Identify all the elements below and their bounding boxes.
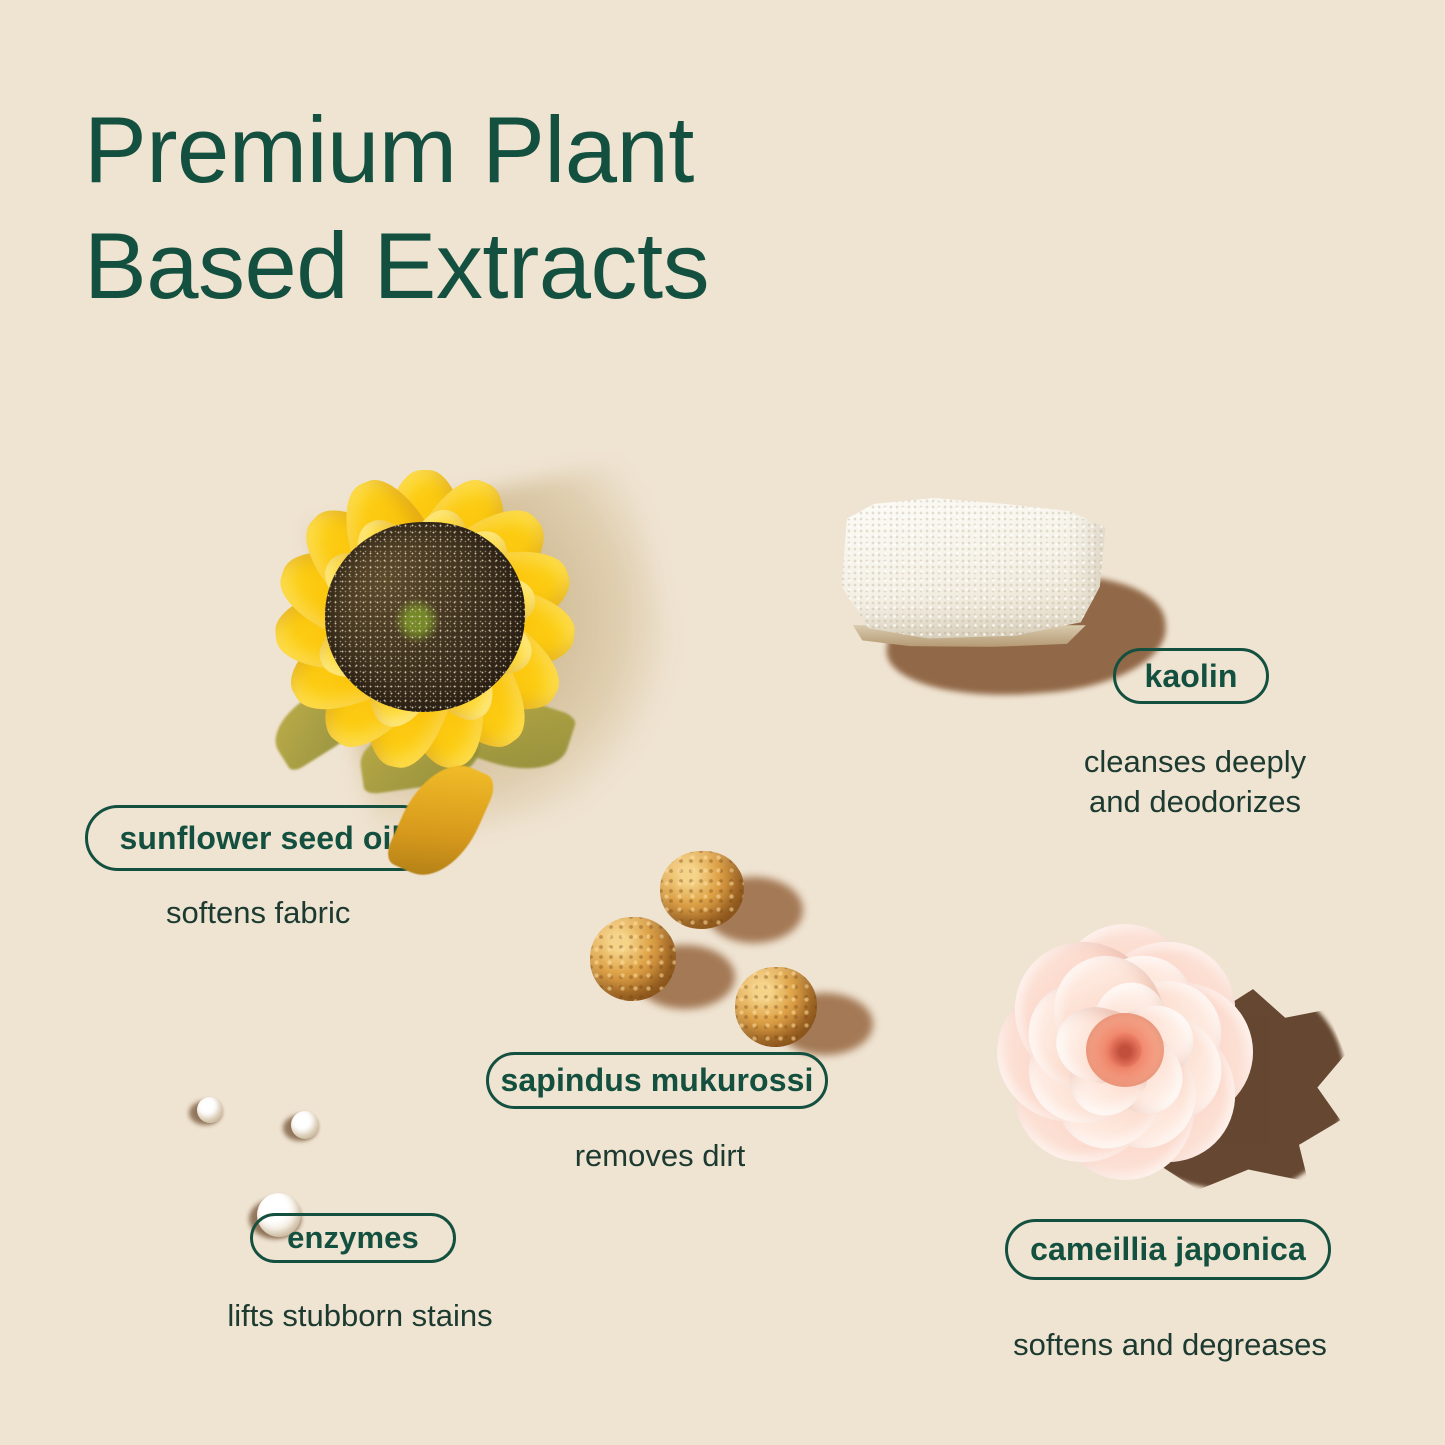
ingredient-caption-sapindus-mukurossi: removes dirt [495, 1136, 825, 1176]
soap-nut [590, 917, 676, 1001]
ingredient-caption-cameillia-japonica: softens and degreases [960, 1325, 1380, 1365]
kaolin-stone [836, 495, 1108, 643]
page-title: Premium Plant Based Extracts [84, 92, 984, 323]
sunflower-seed-disc [325, 522, 525, 712]
ingredient-label-cameillia-japonica[interactable]: cameillia japonica [1005, 1219, 1331, 1280]
ingredient-caption-sunflower-seed-oil: softens fabric [166, 893, 486, 933]
enzyme-bead [291, 1111, 319, 1139]
enzyme-bead [197, 1097, 223, 1123]
ingredient-label-sunflower-seed-oil[interactable]: sunflower seed oil [85, 805, 435, 871]
camellia-center-bud [1086, 1013, 1164, 1087]
kaolin-clay-photo [828, 487, 1158, 707]
ingredient-label-kaolin[interactable]: kaolin [1113, 648, 1269, 704]
soap-nuts-photo [555, 845, 865, 1065]
ingredient-label-enzymes[interactable]: enzymes [250, 1213, 456, 1263]
ingredient-caption-enzymes: lifts stubborn stains [150, 1296, 570, 1336]
camellia-flower-photo [915, 880, 1335, 1220]
ingredient-label-sapindus-mukurossi[interactable]: sapindus mukurossi [486, 1052, 828, 1109]
soap-nut [735, 967, 817, 1047]
infographic-canvas: Premium Plant Based Extracts [0, 0, 1445, 1445]
ingredient-caption-kaolin: cleanses deeply and deodorizes [1030, 742, 1360, 823]
sunflower-photo [190, 395, 660, 845]
